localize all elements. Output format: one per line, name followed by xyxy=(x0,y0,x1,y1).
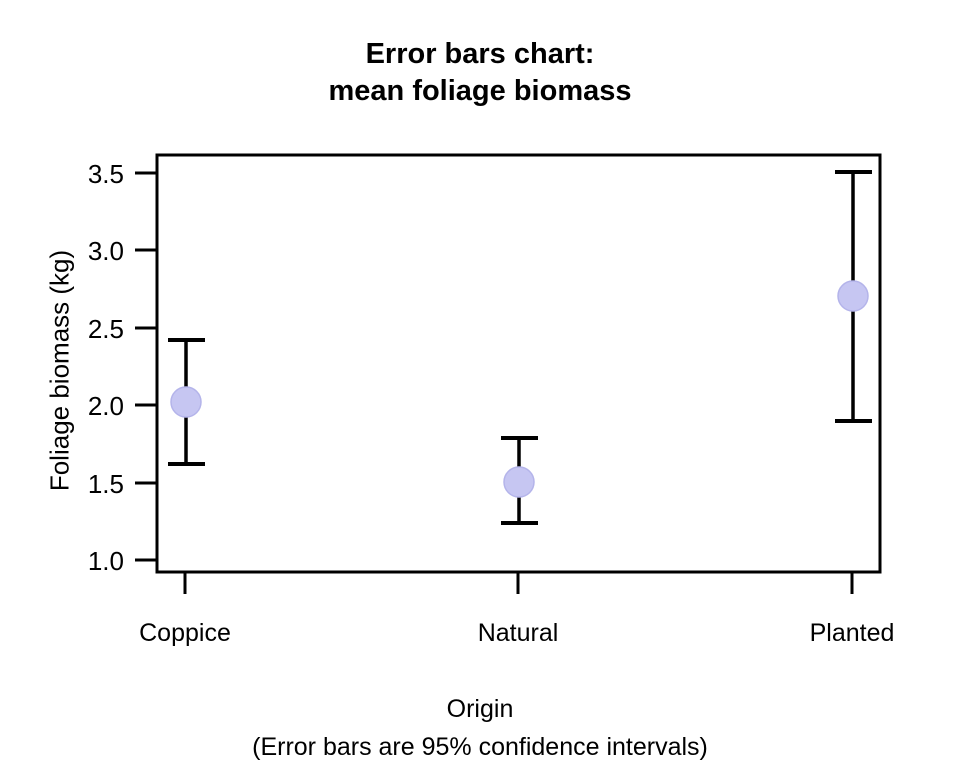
y-tick-label-3.0: 3.0 xyxy=(88,236,124,266)
x-axis-ticks xyxy=(185,572,852,594)
y-tick-label-2.5: 2.5 xyxy=(88,314,124,344)
y-tick-label-1.5: 1.5 xyxy=(88,469,124,499)
chart-canvas: Error bars chart: mean foliage biomass F… xyxy=(0,0,960,768)
y-tick-label-3.5: 3.5 xyxy=(88,159,124,189)
errorbar-coppice xyxy=(168,340,205,464)
x-axis-title-line-2: (Error bars are 95% confidence intervals… xyxy=(0,728,960,766)
plot-area: 3.5 3.0 2.5 2.0 1.5 1.0 Coppice Natural … xyxy=(0,0,960,768)
x-axis-title-line-1: Origin xyxy=(0,690,960,728)
x-label-coppice: Coppice xyxy=(139,619,231,647)
y-axis-ticks xyxy=(135,173,157,560)
data-point-planted xyxy=(838,281,868,311)
y-axis-tick-labels: 3.5 3.0 2.5 2.0 1.5 1.0 xyxy=(88,159,124,576)
data-point-coppice xyxy=(171,387,201,417)
y-tick-label-2.0: 2.0 xyxy=(88,391,124,421)
errorbar-natural xyxy=(501,438,538,523)
y-tick-label-1.0: 1.0 xyxy=(88,546,124,576)
x-label-planted: Planted xyxy=(810,619,895,647)
x-axis-title: Origin (Error bars are 95% confidence in… xyxy=(0,690,960,766)
errorbar-planted xyxy=(835,172,872,421)
data-point-natural xyxy=(504,467,534,497)
x-label-natural: Natural xyxy=(478,619,559,647)
x-axis-category-labels: Coppice Natural Planted xyxy=(139,619,894,647)
